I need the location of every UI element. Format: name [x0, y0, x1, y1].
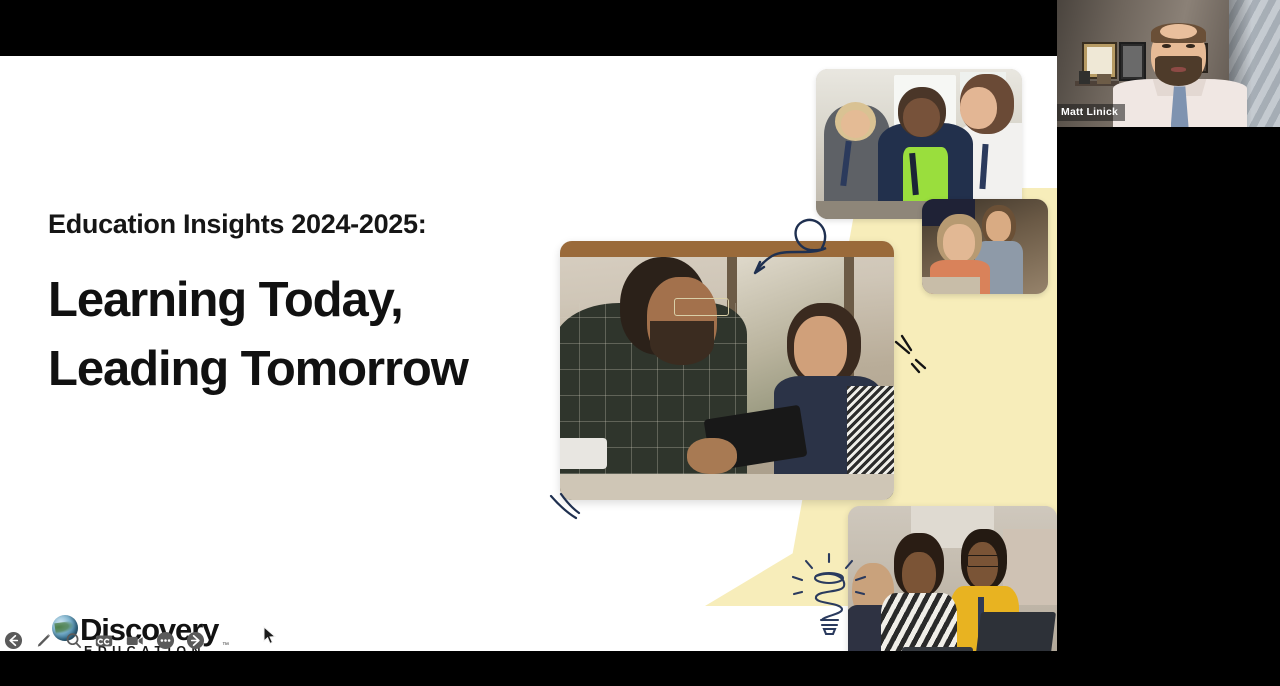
shelf-object	[1097, 74, 1110, 84]
participant-name-label: Matt Linick	[1057, 104, 1125, 121]
shelf-object	[1079, 71, 1090, 84]
video-camera-icon[interactable]	[125, 630, 145, 650]
photo-two-students	[922, 199, 1048, 294]
back-arrow-icon[interactable]	[4, 630, 23, 650]
forward-arrow-icon[interactable]	[186, 630, 205, 650]
pen-icon[interactable]	[34, 630, 53, 650]
slide-kicker: Education Insights 2024-2025:	[48, 210, 568, 240]
search-icon[interactable]	[64, 630, 83, 650]
screen: Education Insights 2024-2025: Learning T…	[0, 0, 1280, 686]
mouse-cursor	[263, 626, 277, 645]
photo-educators	[816, 69, 1022, 219]
webcam-participant-tile[interactable]: Matt Linick	[1057, 0, 1280, 127]
photo-teacher-and-student	[560, 241, 894, 500]
wall-frame	[1119, 42, 1145, 82]
logo-trademark: ™	[222, 642, 229, 649]
closed-caption-icon[interactable]	[94, 630, 114, 650]
photo-collage	[540, 56, 1057, 651]
photo-professional-development	[848, 506, 1057, 651]
presentation-slide[interactable]: Education Insights 2024-2025: Learning T…	[0, 56, 1057, 651]
slide-headline-line2: Leading Tomorrow	[48, 335, 568, 405]
more-options-icon[interactable]	[156, 630, 175, 650]
player-toolbar[interactable]	[0, 629, 184, 651]
slide-title-block: Education Insights 2024-2025: Learning T…	[48, 210, 568, 405]
slide-headline-line1: Learning Today,	[48, 266, 568, 336]
